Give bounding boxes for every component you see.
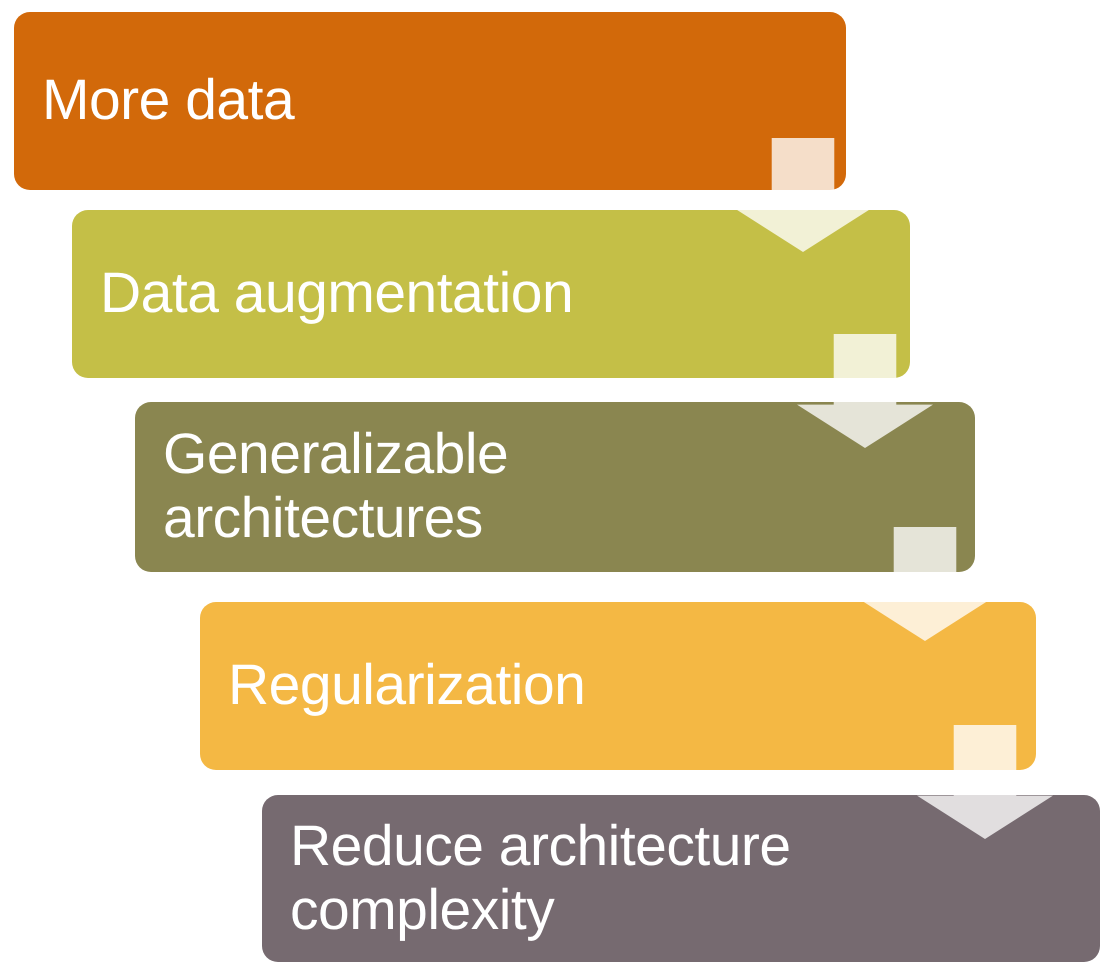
step-box-generalizable-architectures[interactable]: Generalizable architectures: [135, 402, 975, 572]
step-box-more-data[interactable]: More data: [14, 12, 846, 190]
step-label-regularization: Regularization: [200, 654, 601, 718]
step-label-reduce-architecture-complexity: Reduce architecture complexity: [262, 815, 807, 943]
step-box-reduce-architecture-complexity[interactable]: Reduce architecture complexity: [262, 795, 1100, 962]
step-box-regularization[interactable]: Regularization: [200, 602, 1036, 770]
step-box-data-augmentation[interactable]: Data augmentation: [72, 210, 910, 378]
step-label-more-data: More data: [14, 69, 310, 133]
diagram-canvas: More data Data augmentation Generalizabl…: [0, 0, 1110, 979]
step-label-data-augmentation: Data augmentation: [72, 262, 589, 326]
step-label-generalizable-architectures: Generalizable architectures: [135, 423, 524, 551]
